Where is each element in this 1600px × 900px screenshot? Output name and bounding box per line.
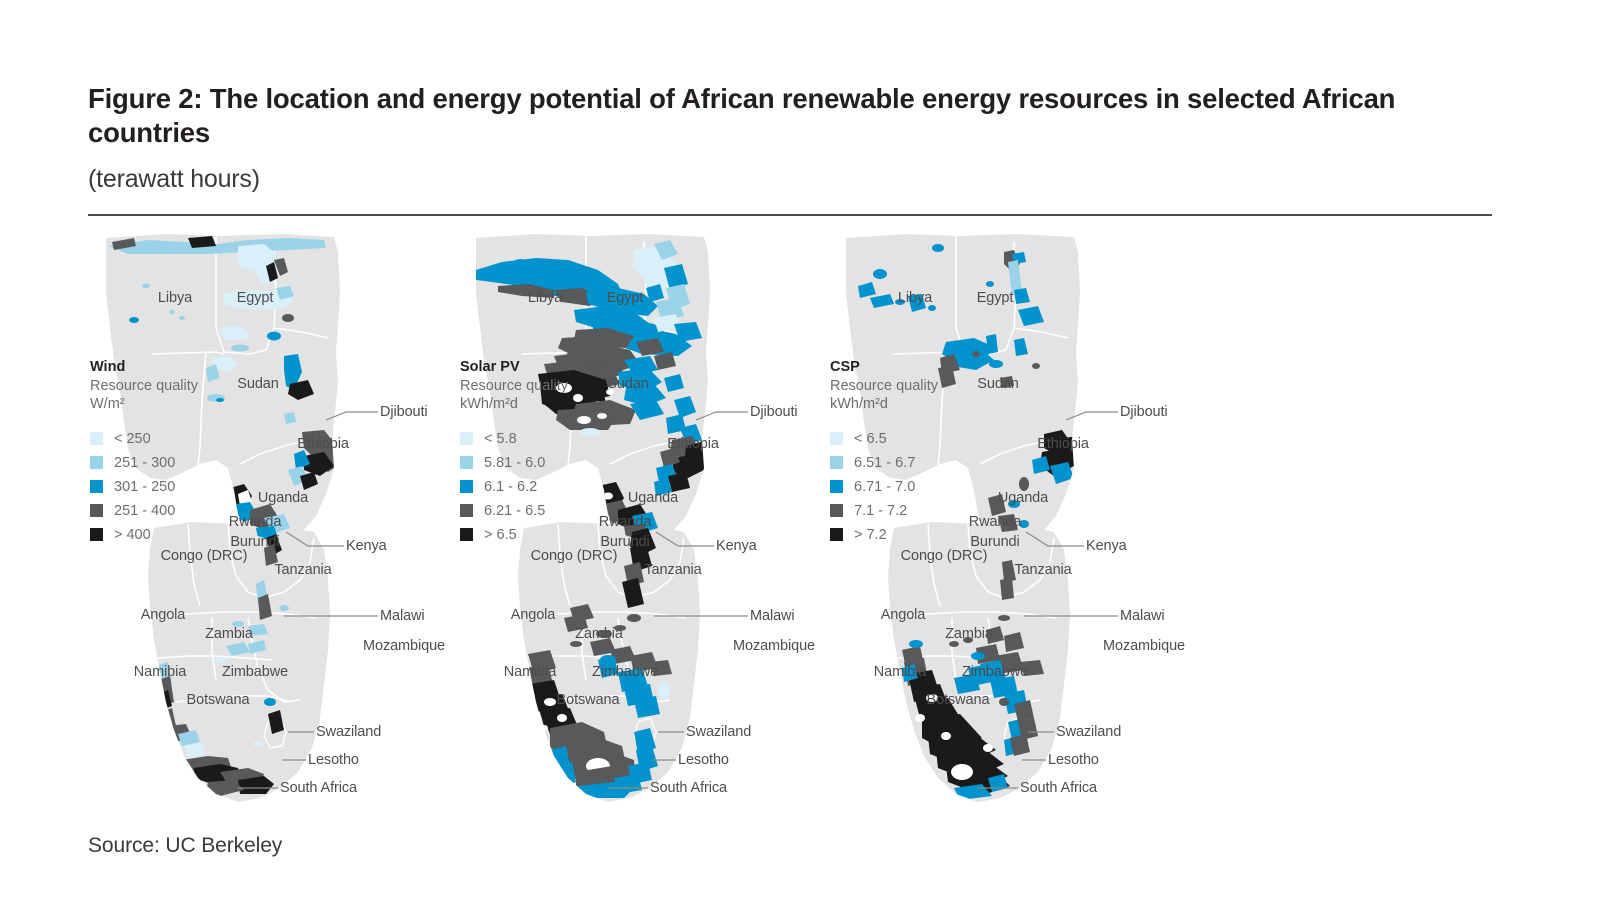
legend-label: 7.1 - 7.2 bbox=[854, 503, 907, 519]
legend-label: > 7.2 bbox=[854, 527, 887, 543]
legend-label: 301 - 250 bbox=[114, 479, 175, 495]
map-label-zimbabwe: Zimbabwe bbox=[222, 664, 288, 680]
map-label-mozambique: Mozambique bbox=[733, 638, 815, 654]
legend-row: 6.1 - 6.2 bbox=[460, 475, 640, 499]
legend-title: CSP bbox=[830, 358, 1010, 377]
map-label-mozambique: Mozambique bbox=[363, 638, 445, 654]
map-label-south-africa: South Africa bbox=[280, 780, 357, 796]
map-label-malawi: Malawi bbox=[1120, 608, 1165, 624]
map-label-ethiopia: Ethiopia bbox=[297, 436, 349, 452]
map-label-djibouti: Djibouti bbox=[1120, 404, 1168, 420]
map-label-botswana: Botswana bbox=[557, 692, 620, 708]
figure-subtitle: (terawatt hours) bbox=[88, 165, 260, 194]
map-label-uganda: Uganda bbox=[258, 490, 308, 506]
legend-row: < 250 bbox=[90, 427, 270, 451]
legend-swatch bbox=[830, 432, 843, 445]
map-label-malawi: Malawi bbox=[380, 608, 425, 624]
map-label-tanzania: Tanzania bbox=[274, 562, 331, 578]
legend-swatch bbox=[90, 432, 103, 445]
map-label-namibia: Namibia bbox=[504, 664, 557, 680]
map-label-rwanda: Rwanda bbox=[599, 514, 652, 530]
legend-swatch bbox=[830, 456, 843, 469]
map-label-ethiopia: Ethiopia bbox=[667, 436, 719, 452]
panel-solar-pv: Solar PV Resource quality kWh/m²d < 5.8 … bbox=[458, 232, 878, 820]
legend-label: 6.1 - 6.2 bbox=[484, 479, 537, 495]
map-label-djibouti: Djibouti bbox=[750, 404, 798, 420]
figure-title: Figure 2: The location and energy potent… bbox=[88, 82, 1492, 149]
map-label-uganda: Uganda bbox=[628, 490, 678, 506]
legend-swatch bbox=[90, 480, 103, 493]
map-label-tanzania: Tanzania bbox=[1014, 562, 1071, 578]
map-label-kenya: Kenya bbox=[716, 538, 757, 554]
map-label-swaziland: Swaziland bbox=[686, 724, 751, 740]
legend-row: 6.71 - 7.0 bbox=[830, 475, 1010, 499]
legend-title: Wind bbox=[90, 358, 270, 377]
legend-row: 301 - 250 bbox=[90, 475, 270, 499]
map-label-swaziland: Swaziland bbox=[316, 724, 381, 740]
legend-label: 6.71 - 7.0 bbox=[854, 479, 915, 495]
panel-csp: CSP Resource quality kWh/m²d < 6.5 6.51 … bbox=[828, 232, 1248, 820]
map-label-botswana: Botswana bbox=[187, 692, 250, 708]
header-divider bbox=[88, 214, 1492, 216]
map-label-sudan: Sudan bbox=[607, 376, 648, 392]
legend-label: 251 - 300 bbox=[114, 455, 175, 471]
map-label-drc: Congo (DRC) bbox=[161, 548, 248, 564]
map-label-angola: Angola bbox=[881, 607, 926, 623]
map-label-lesotho: Lesotho bbox=[1048, 752, 1099, 768]
map-label-zambia: Zambia bbox=[945, 626, 993, 642]
map-label-namibia: Namibia bbox=[874, 664, 927, 680]
legend-swatch bbox=[460, 504, 473, 517]
legend-swatch bbox=[460, 432, 473, 445]
source-note: Source: UC Berkeley bbox=[88, 834, 282, 858]
map-label-libya: Libya bbox=[158, 290, 192, 306]
legend-swatch bbox=[90, 528, 103, 541]
map-label-djibouti: Djibouti bbox=[380, 404, 428, 420]
legend-label: 6.51 - 6.7 bbox=[854, 455, 915, 471]
legend-swatch bbox=[90, 456, 103, 469]
map-label-drc: Congo (DRC) bbox=[531, 548, 618, 564]
map-label-zambia: Zambia bbox=[575, 626, 623, 642]
legend-row: 5.81 - 6.0 bbox=[460, 451, 640, 475]
legend-row: < 6.5 bbox=[830, 427, 1010, 451]
legend-row: < 5.8 bbox=[460, 427, 640, 451]
map-label-zambia: Zambia bbox=[205, 626, 253, 642]
legend-label: > 6.5 bbox=[484, 527, 517, 543]
legend-title: Solar PV bbox=[460, 358, 640, 377]
legend-swatch bbox=[830, 528, 843, 541]
legend-row: 251 - 300 bbox=[90, 451, 270, 475]
legend-label: 5.81 - 6.0 bbox=[484, 455, 545, 471]
map-label-botswana: Botswana bbox=[927, 692, 990, 708]
legend-label: > 400 bbox=[114, 527, 151, 543]
map-label-angola: Angola bbox=[511, 607, 556, 623]
map-label-rwanda: Rwanda bbox=[969, 514, 1022, 530]
map-label-rwanda: Rwanda bbox=[229, 514, 282, 530]
map-label-drc: Congo (DRC) bbox=[901, 548, 988, 564]
legend-label: < 6.5 bbox=[854, 431, 887, 447]
legend-label: 251 - 400 bbox=[114, 503, 175, 519]
map-label-kenya: Kenya bbox=[1086, 538, 1127, 554]
figure-container: Figure 2: The location and energy potent… bbox=[88, 0, 1492, 900]
legend-swatch bbox=[460, 480, 473, 493]
map-label-swaziland: Swaziland bbox=[1056, 724, 1121, 740]
map-label-sudan: Sudan bbox=[977, 376, 1018, 392]
map-label-uganda: Uganda bbox=[998, 490, 1048, 506]
legend-label: 6.21 - 6.5 bbox=[484, 503, 545, 519]
map-label-sudan: Sudan bbox=[237, 376, 278, 392]
map-label-lesotho: Lesotho bbox=[678, 752, 729, 768]
map-label-lesotho: Lesotho bbox=[308, 752, 359, 768]
legend-swatch bbox=[830, 504, 843, 517]
legend-swatch bbox=[460, 528, 473, 541]
map-label-mozambique: Mozambique bbox=[1103, 638, 1185, 654]
legend-row: 6.51 - 6.7 bbox=[830, 451, 1010, 475]
map-label-egypt: Egypt bbox=[977, 290, 1014, 306]
map-label-kenya: Kenya bbox=[346, 538, 387, 554]
legend-swatch bbox=[460, 456, 473, 469]
map-label-libya: Libya bbox=[528, 290, 562, 306]
map-label-egypt: Egypt bbox=[607, 290, 644, 306]
map-label-egypt: Egypt bbox=[237, 290, 274, 306]
map-label-namibia: Namibia bbox=[134, 664, 187, 680]
map-label-libya: Libya bbox=[898, 290, 932, 306]
map-label-zimbabwe: Zimbabwe bbox=[962, 664, 1028, 680]
map-label-tanzania: Tanzania bbox=[644, 562, 701, 578]
map-label-zimbabwe: Zimbabwe bbox=[592, 664, 658, 680]
legend-label: < 250 bbox=[114, 431, 151, 447]
map-label-angola: Angola bbox=[141, 607, 186, 623]
map-label-south-africa: South Africa bbox=[650, 780, 727, 796]
legend-label: < 5.8 bbox=[484, 431, 517, 447]
panel-wind: Wind Resource quality W/m² < 250 251 - 3… bbox=[88, 232, 508, 820]
map-label-south-africa: South Africa bbox=[1020, 780, 1097, 796]
map-label-malawi: Malawi bbox=[750, 608, 795, 624]
legend-swatch bbox=[830, 480, 843, 493]
map-label-ethiopia: Ethiopia bbox=[1037, 436, 1089, 452]
legend-swatch bbox=[90, 504, 103, 517]
